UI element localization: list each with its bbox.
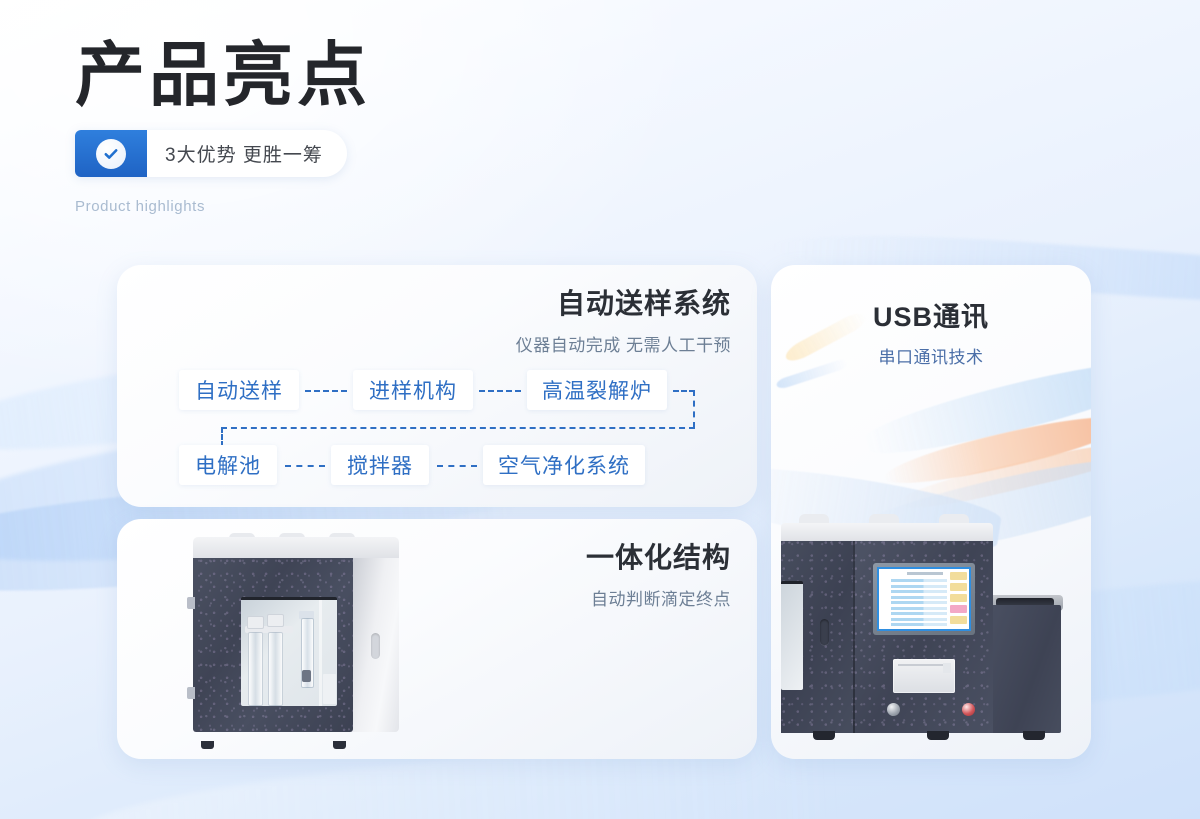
card-title: 自动送样系统 [516,287,731,321]
card-title: 一体化结构 [586,541,731,575]
card-subtitle: 仪器自动完成 无需人工干预 [516,331,731,356]
flow-step: 高温裂解炉 [527,370,667,410]
flow-connector [479,390,521,392]
check-circle-icon [96,139,126,169]
flow-step: 自动送样 [179,370,299,410]
card-title: USB通讯 [771,301,1091,333]
usb-communication-card[interactable]: USB通讯 串口通讯技术 [771,265,1091,759]
page-header: 产品亮点 3大优势 更胜一筹 Product highlights [75,40,371,215]
flow-step: 搅拌器 [331,445,429,485]
badge-icon-block [75,130,147,177]
flow-step: 电解池 [179,445,277,485]
integrated-structure-card[interactable]: 一体化结构 自动判断滴定终点 [117,519,757,759]
page-subtitle-en: Product highlights [75,198,371,215]
auto-sampling-card[interactable]: 自动送样系统 仪器自动完成 无需人工干预 自动送样 进样机构 高温裂解炉 电解池… [117,265,757,507]
badge-label: 3大优势 更胜一筹 [165,140,323,167]
flow-connector [437,465,477,467]
flow-connector [305,390,347,392]
page-title: 产品亮点 [75,40,371,110]
instrument-knob [962,703,975,716]
instrument-front-image [777,519,1085,755]
instrument-knob [887,703,900,716]
card-subtitle: 串口通讯技术 [771,343,1091,368]
card-heading-group: 一体化结构 自动判断滴定终点 [586,541,731,610]
flow-connector [221,427,223,447]
advantage-badge: 3大优势 更胜一筹 [75,130,347,177]
flow-connector [673,390,695,392]
flow-connector [285,465,325,467]
card-heading-group: 自动送样系统 仪器自动完成 无需人工干预 [516,287,731,356]
flow-connector [693,390,695,428]
cards-container: 自动送样系统 仪器自动完成 无需人工干预 自动送样 进样机构 高温裂解炉 电解池… [117,265,1091,759]
flow-step: 空气净化系统 [483,445,645,485]
process-flow-diagram: 自动送样 进样机构 高温裂解炉 电解池 搅拌器 空气净化系统 [179,370,719,485]
flow-connector [221,427,695,429]
instrument-side-image [175,537,413,742]
flow-step: 进样机构 [353,370,473,410]
card-subtitle: 自动判断滴定终点 [586,585,731,610]
instrument-lcd-screen [877,567,971,631]
card-heading-group: USB通讯 串口通讯技术 [771,301,1091,368]
